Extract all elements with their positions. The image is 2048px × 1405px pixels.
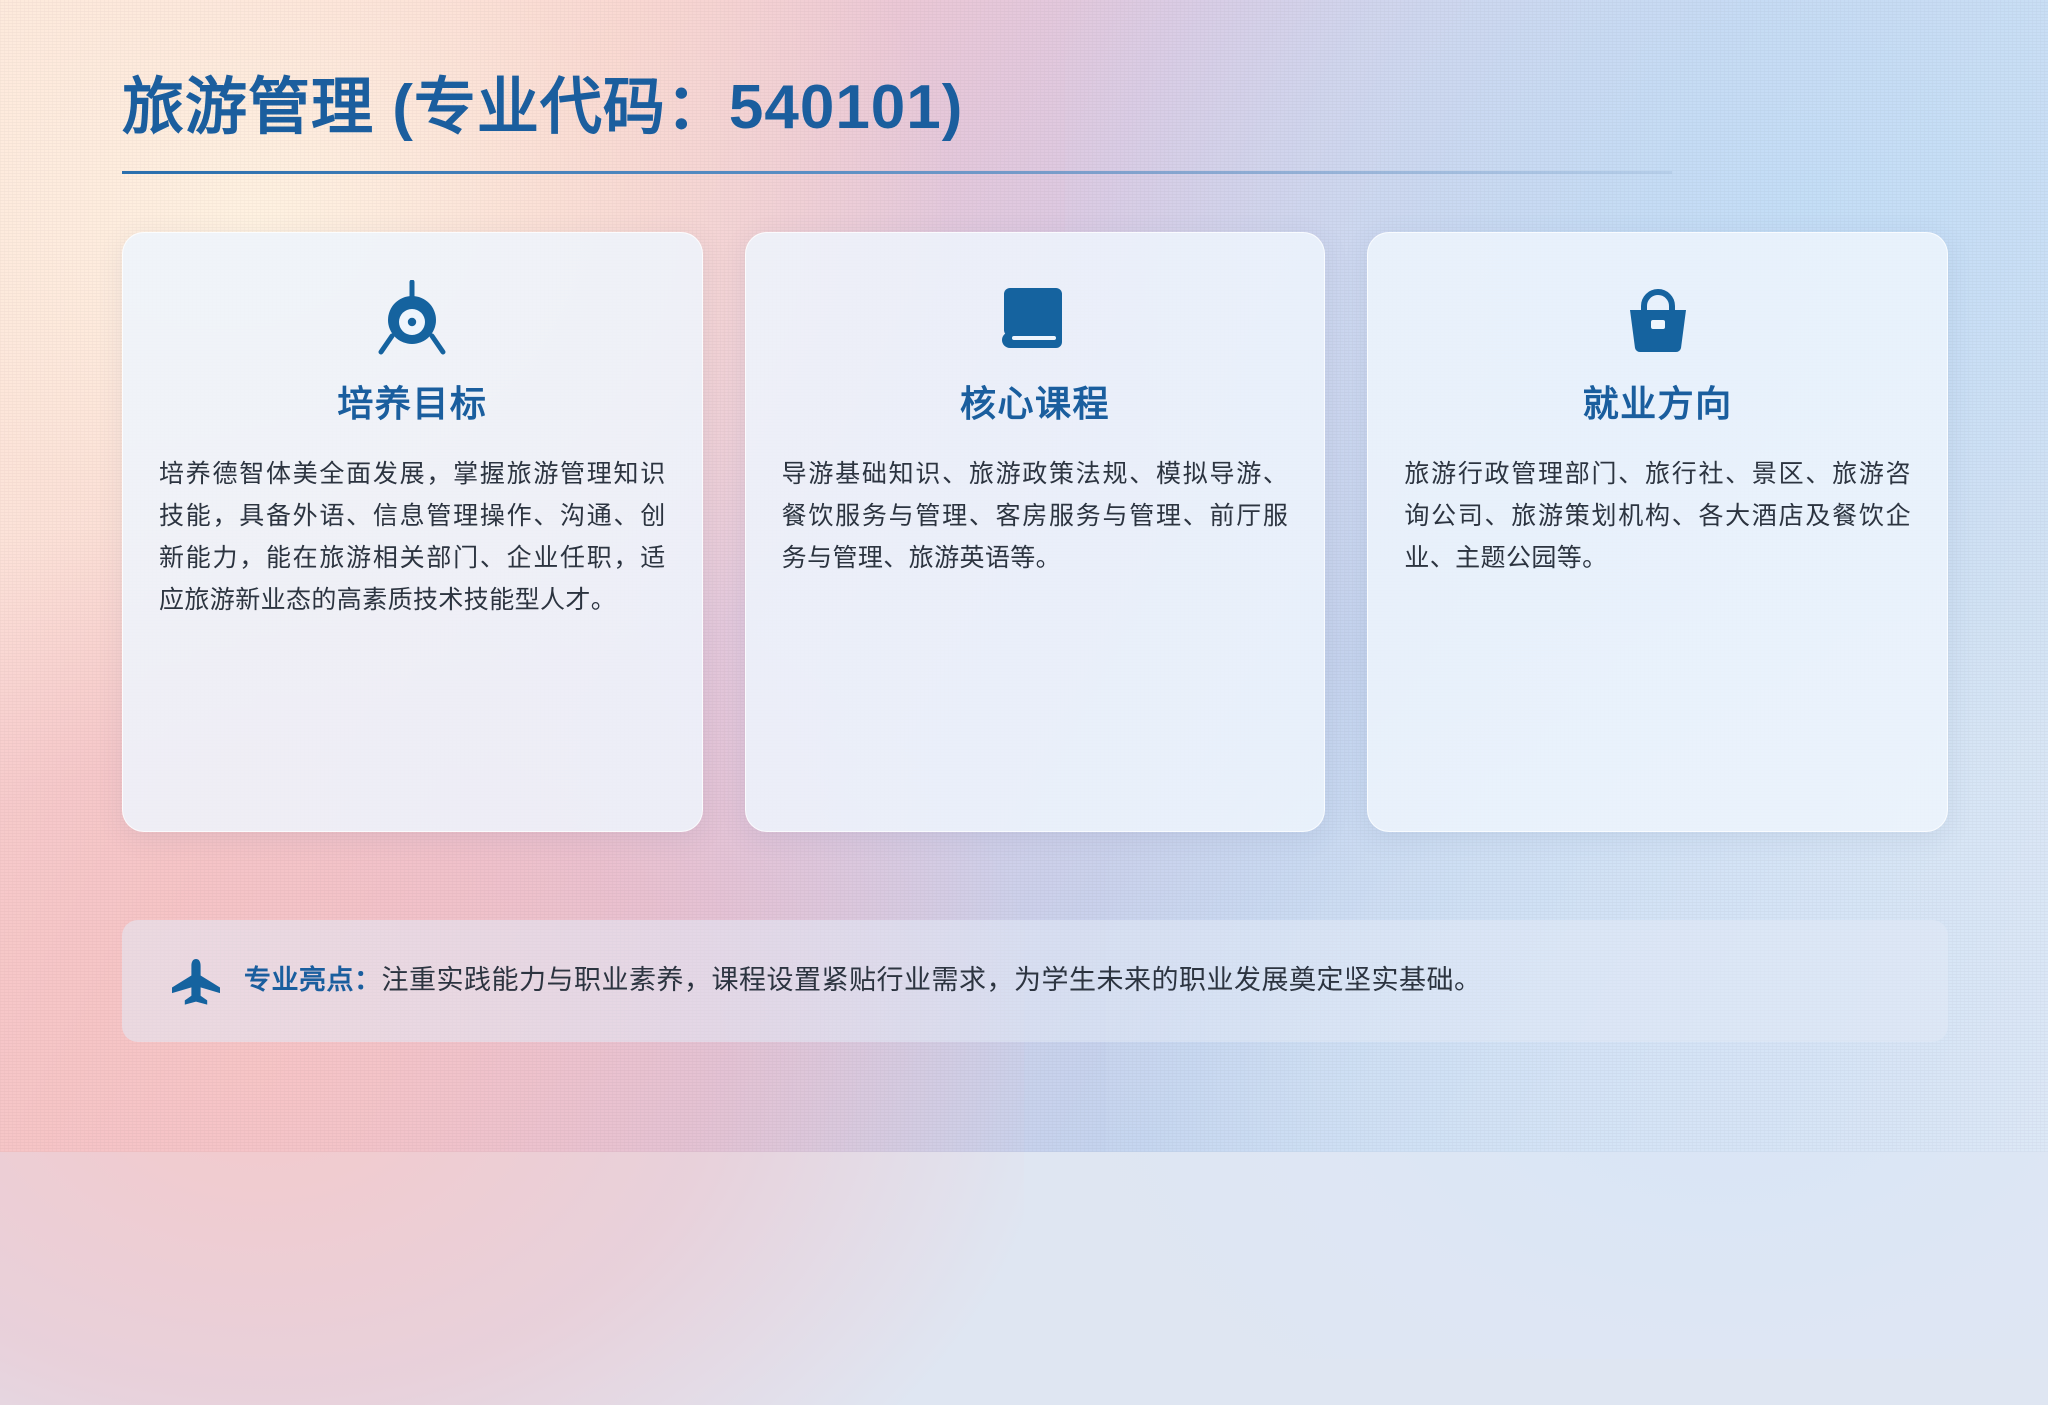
handbag-icon (1622, 279, 1694, 357)
highlight-label: 专业亮点： (244, 965, 382, 995)
card-title: 核心课程 (960, 375, 1110, 427)
airplane-icon (170, 957, 222, 1005)
card-title: 培养目标 (337, 375, 487, 427)
book-icon (1000, 279, 1070, 357)
card-body: 培养德智体美全面发展，掌握旅游管理知识技能，具备外语、信息管理操作、沟通、创新能… (159, 453, 666, 621)
card-employment-direction[interactable]: 就业方向 旅游行政管理部门、旅行社、景区、旅游咨询公司、旅游策划机构、各大酒店及… (1367, 232, 1948, 832)
card-training-objective[interactable]: 培养目标 培养德智体美全面发展，掌握旅游管理知识技能，具备外语、信息管理操作、沟… (122, 232, 703, 832)
card-core-courses[interactable]: 核心课程 导游基础知识、旅游政策法规、模拟导游、餐饮服务与管理、客房服务与管理、… (745, 232, 1326, 832)
highlight-text: 专业亮点：注重实践能力与职业素养，课程设置紧贴行业需求，为学生未来的职业发展奠定… (244, 962, 1482, 1000)
cards-row: 培养目标 培养德智体美全面发展，掌握旅游管理知识技能，具备外语、信息管理操作、沟… (122, 232, 1948, 832)
title-divider (122, 171, 1672, 174)
page-title: 旅游管理 (专业代码：540101) (122, 72, 1948, 143)
card-body: 导游基础知识、旅游政策法规、模拟导游、餐饮服务与管理、客房服务与管理、前厅服务与… (782, 453, 1289, 579)
header: 旅游管理 (专业代码：540101) (122, 72, 1948, 174)
highlight-description: 注重实践能力与职业素养，课程设置紧贴行业需求，为学生未来的职业发展奠定坚实基础。 (382, 965, 1482, 995)
highlight-banner: 专业亮点：注重实践能力与职业素养，课程设置紧贴行业需求，为学生未来的职业发展奠定… (122, 920, 1948, 1042)
target-icon (376, 279, 448, 357)
card-title: 就业方向 (1583, 375, 1733, 427)
card-body: 旅游行政管理部门、旅行社、景区、旅游咨询公司、旅游策划机构、各大酒店及餐饮企业、… (1404, 453, 1911, 579)
